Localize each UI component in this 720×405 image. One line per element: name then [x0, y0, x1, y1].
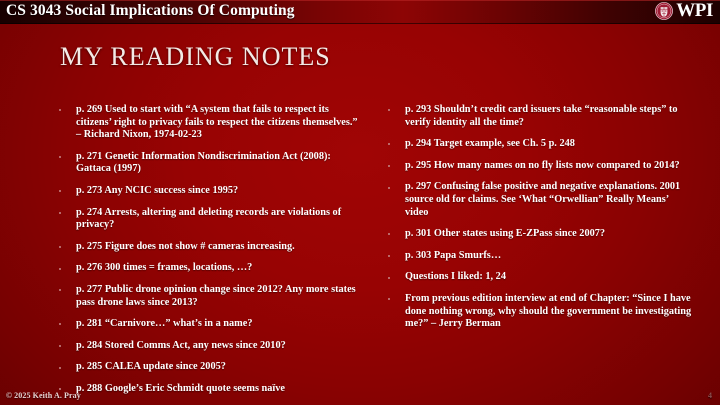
bullet-text: p. 303 Papa Smurfs…: [405, 250, 501, 261]
bullet-text: p. 294 Target example, see Ch. 5 p. 248: [405, 138, 575, 149]
bullet-item: p. 281 “Carnivore…” what’s in a name?: [56, 318, 363, 331]
bullet-item: p. 271 Genetic Information Nondiscrimina…: [56, 151, 363, 176]
bullet-dot-icon: [59, 212, 61, 214]
wpi-logo: WPI: [655, 1, 713, 20]
bullet-dot-icon: [59, 367, 61, 369]
bullet-item: p. 284 Stored Comms Act, any news since …: [56, 340, 363, 353]
bullet-text: p. 273 Any NCIC success since 1995?: [76, 185, 238, 196]
bullet-dot-icon: [388, 255, 390, 257]
bullet-text: p. 293 Shouldn’t credit card issuers tak…: [405, 104, 678, 128]
bullet-item: p. 294 Target example, see Ch. 5 p. 248: [385, 138, 692, 151]
bullet-dot-icon: [388, 233, 390, 235]
bullet-dot-icon: [59, 268, 61, 270]
bullet-item: p. 288 Google’s Eric Schmidt quote seems…: [56, 383, 363, 396]
title-bar: CS 3043 Social Implications Of Computing…: [0, 0, 720, 24]
bullet-item: p. 276 300 times = frames, locations, …?: [56, 262, 363, 275]
bullet-item: p. 273 Any NCIC success since 1995?: [56, 185, 363, 198]
bullet-text: p. 276 300 times = frames, locations, …?: [76, 262, 252, 273]
page-title: MY READING NOTES: [60, 42, 331, 72]
bullet-text: From previous edition interview at end o…: [405, 293, 691, 329]
bullet-dot-icon: [59, 388, 61, 390]
bullet-dot-icon: [388, 277, 390, 279]
bullet-dot-icon: [388, 143, 390, 145]
bullet-text: p. 285 CALEA update since 2005?: [76, 361, 226, 372]
bullet-text: p. 297 Confusing false positive and nega…: [405, 181, 680, 217]
bullet-dot-icon: [388, 109, 390, 111]
bullet-dot-icon: [59, 190, 61, 192]
left-bullet-column: p. 269 Used to start with “A system that…: [56, 104, 363, 396]
bullet-item: p. 274 Arrests, altering and deleting re…: [56, 207, 363, 232]
right-bullet-column: p. 293 Shouldn’t credit card issuers tak…: [385, 104, 692, 396]
slide-canvas: CS 3043 Social Implications Of Computing…: [0, 0, 720, 405]
bullet-dot-icon: [59, 289, 61, 291]
bullet-dot-icon: [59, 246, 61, 248]
bullet-item: p. 295 How many names on no fly lists no…: [385, 160, 692, 173]
bullet-item: Questions I liked: 1, 24: [385, 271, 692, 284]
bullet-text: Questions I liked: 1, 24: [405, 271, 506, 282]
bullet-text: p. 295 How many names on no fly lists no…: [405, 160, 680, 171]
bullet-text: p. 288 Google’s Eric Schmidt quote seems…: [76, 383, 285, 394]
bullet-item: p. 269 Used to start with “A system that…: [56, 104, 363, 142]
footer-page-number: 4: [708, 391, 712, 400]
course-title: CS 3043 Social Implications Of Computing: [6, 2, 295, 20]
content-body: p. 269 Used to start with “A system that…: [56, 104, 692, 396]
bullet-item: From previous edition interview at end o…: [385, 293, 692, 331]
bullet-item: p. 277 Public drone opinion change since…: [56, 284, 363, 309]
bullet-text: p. 271 Genetic Information Nondiscrimina…: [76, 151, 331, 175]
bullet-dot-icon: [388, 165, 390, 167]
bullet-item: p. 285 CALEA update since 2005?: [56, 361, 363, 374]
bullet-item: p. 293 Shouldn’t credit card issuers tak…: [385, 104, 692, 129]
bullet-text: p. 281 “Carnivore…” what’s in a name?: [76, 318, 252, 329]
wpi-wordmark: WPI: [676, 1, 713, 20]
footer-copyright: © 2025 Keith A. Pray: [6, 391, 81, 400]
bullet-dot-icon: [59, 323, 61, 325]
bullet-item: p. 301 Other states using E-ZPass since …: [385, 228, 692, 241]
bullet-text: p. 277 Public drone opinion change since…: [76, 284, 356, 308]
bullet-dot-icon: [388, 187, 390, 189]
bullet-dot-icon: [59, 345, 61, 347]
bullet-dot-icon: [59, 156, 61, 158]
bullet-text: p. 274 Arrests, altering and deleting re…: [76, 207, 341, 231]
bullet-text: p. 275 Figure does not show # cameras in…: [76, 241, 295, 252]
wpi-seal-icon: [655, 2, 673, 20]
bullet-item: p. 297 Confusing false positive and nega…: [385, 181, 692, 219]
bullet-dot-icon: [388, 298, 390, 300]
bullet-text: p. 269 Used to start with “A system that…: [76, 104, 358, 140]
bullet-item: p. 303 Papa Smurfs…: [385, 250, 692, 263]
bullet-item: p. 275 Figure does not show # cameras in…: [56, 241, 363, 254]
bullet-text: p. 301 Other states using E-ZPass since …: [405, 228, 605, 239]
bullet-dot-icon: [59, 109, 61, 111]
bullet-text: p. 284 Stored Comms Act, any news since …: [76, 340, 286, 351]
